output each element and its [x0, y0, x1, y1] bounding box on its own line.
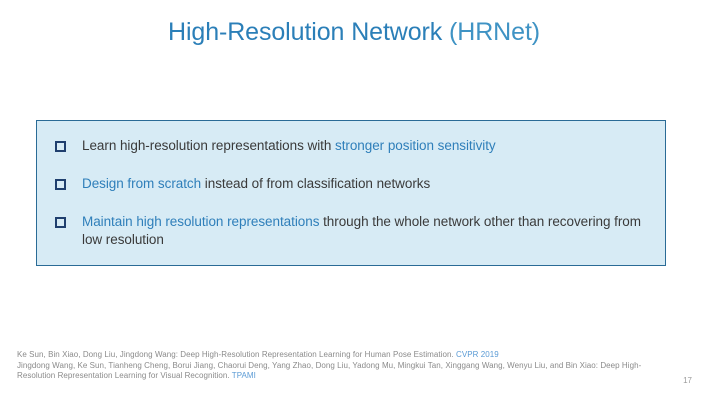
reference-citation-text: Ke Sun, Bin Xiao, Dong Liu, Jingdong Wan… [17, 350, 456, 359]
list-item: Maintain high resolution representations… [55, 213, 647, 249]
list-item-text-highlight: Design from scratch [82, 176, 201, 191]
list-item: Design from scratch instead of from clas… [55, 175, 647, 193]
page-title: High-Resolution Network (HRNet) [0, 18, 708, 47]
list-item-text-plain-before: Learn high-resolution representations wi… [82, 138, 335, 153]
list-item-text-highlight: Maintain high resolution representations [82, 214, 319, 229]
reference-citation-text: Jingdong Wang, Ke Sun, Tianheng Cheng, B… [17, 361, 641, 381]
page-title-main: High-Resolution Network [168, 18, 449, 46]
list-item-text: Design from scratch instead of from clas… [82, 175, 647, 193]
page-number: 17 [683, 376, 692, 385]
list-item-text-highlight: stronger position sensitivity [335, 138, 496, 153]
empty-square-bullet-icon [55, 217, 66, 228]
empty-square-bullet-icon [55, 179, 66, 190]
reference-venue: CVPR 2019 [456, 350, 499, 359]
reference-entry: Ke Sun, Bin Xiao, Dong Liu, Jingdong Wan… [17, 350, 677, 361]
reference-venue: TPAMI [232, 371, 256, 380]
reference-list: Ke Sun, Bin Xiao, Dong Liu, Jingdong Wan… [17, 350, 677, 382]
list-item-text: Learn high-resolution representations wi… [82, 137, 647, 155]
list-item-text: Maintain high resolution representations… [82, 213, 647, 249]
bullet-list-box: Learn high-resolution representations wi… [36, 120, 666, 266]
list-item-text-plain-after: instead of from classification networks [201, 176, 430, 191]
list-item: Learn high-resolution representations wi… [55, 137, 647, 155]
reference-entry: Jingdong Wang, Ke Sun, Tianheng Cheng, B… [17, 361, 677, 382]
empty-square-bullet-icon [55, 141, 66, 152]
page-title-abbreviation: (HRNet) [449, 18, 540, 46]
